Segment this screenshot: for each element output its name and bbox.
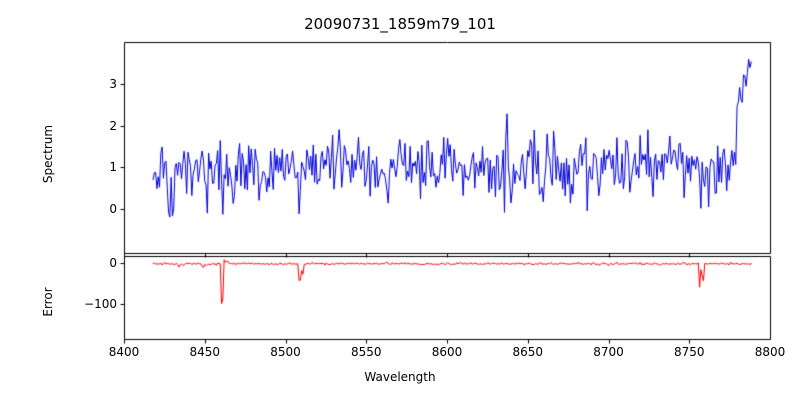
y-tick-label-spectrum: 0 [0, 202, 117, 216]
x-tick-label: 8650 [512, 345, 543, 359]
y-tick-label-error: 0 [0, 256, 117, 270]
y-tick-label-spectrum: 1 [0, 160, 117, 174]
x-tick-label: 8450 [189, 345, 220, 359]
x-tick-label: 8400 [109, 345, 140, 359]
x-tick-label: 8700 [593, 345, 624, 359]
y-tick-label-spectrum: 3 [0, 77, 117, 91]
x-axis-label: Wavelength [0, 371, 800, 383]
x-tick-label: 8500 [270, 345, 301, 359]
x-tick-label: 8550 [351, 345, 382, 359]
matplotlib-figure: 20090731_1859m79_101 Spectrum Error Wave… [0, 0, 800, 400]
page-title: 20090731_1859m79_101 [0, 17, 800, 32]
y-axis-label-spectrum: Spectrum [42, 94, 54, 214]
y-tick-label-spectrum: 2 [0, 119, 117, 133]
x-tick-label: 8800 [755, 345, 786, 359]
x-tick-label: 8750 [674, 345, 705, 359]
y-tick-label-error: −100 [0, 297, 117, 311]
spectrum-error-plot-canvas [0, 0, 800, 400]
x-tick-label: 8600 [432, 345, 463, 359]
